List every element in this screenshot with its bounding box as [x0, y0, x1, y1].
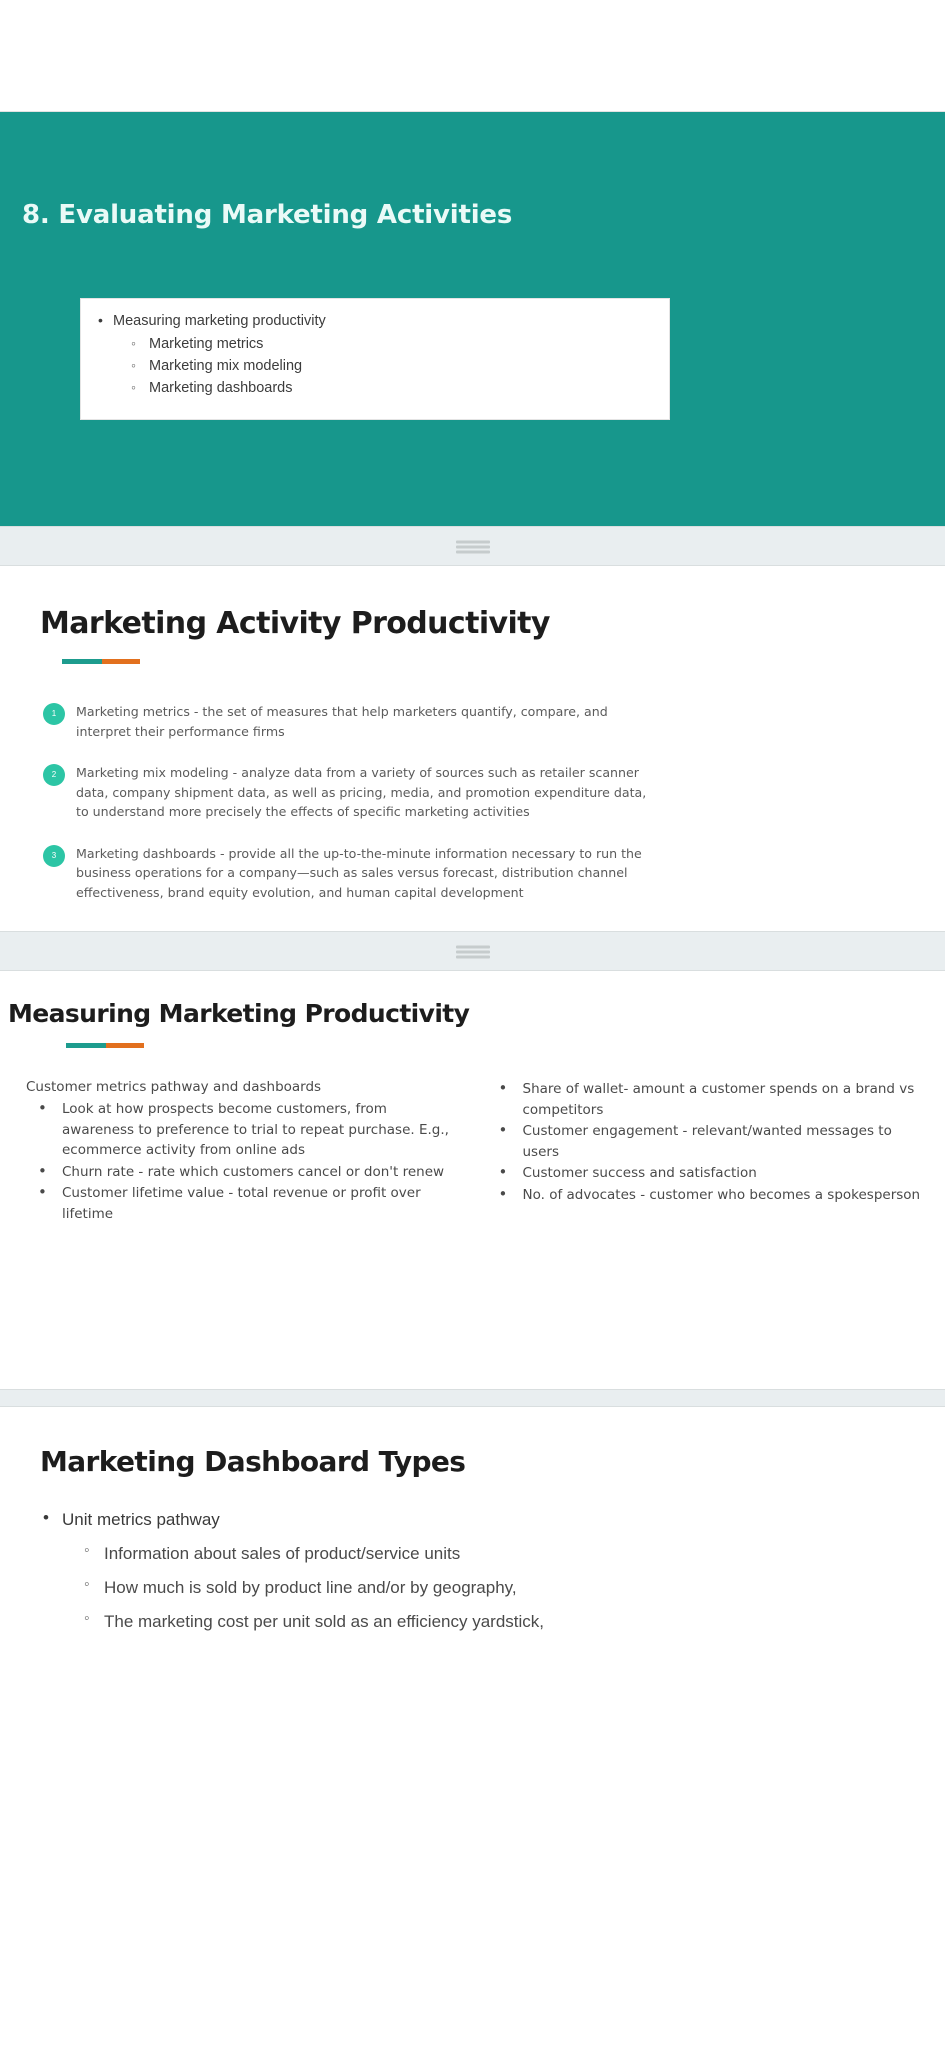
section-content-card: Measuring marketing productivity Marketi…	[80, 298, 670, 420]
section-title: 8. Evaluating Marketing Activities	[22, 200, 512, 230]
page-title: Marketing Activity Productivity	[40, 606, 550, 641]
page-title: Marketing Dashboard Types	[40, 1445, 465, 1478]
drag-handle-icon[interactable]	[456, 541, 490, 552]
numbered-list: 1 Marketing metrics - the set of measure…	[40, 702, 660, 924]
two-column-body: Customer metrics pathway and dashboards …	[0, 1079, 945, 1225]
list-item: Measuring marketing productivity	[81, 313, 669, 329]
list-item: Churn rate - rate which customers cancel…	[26, 1162, 457, 1183]
right-column: Share of wallet- amount a customer spend…	[473, 1079, 945, 1225]
list-item: No. of advocates - customer who becomes …	[483, 1185, 930, 1206]
list-item: How much is sold by product line and/or …	[40, 1578, 920, 1598]
column-heading: Customer metrics pathway and dashboards	[26, 1079, 457, 1095]
list-item: Customer engagement - relevant/wanted me…	[483, 1121, 930, 1162]
slide-marketing-dashboard-types[interactable]: Marketing Dashboard Types Unit metrics p…	[0, 1407, 945, 1747]
page-title: Measuring Marketing Productivity	[8, 999, 469, 1028]
slide-deck[interactable]: 8. Evaluating Marketing Activities Measu…	[0, 0, 945, 1747]
drag-handle-icon[interactable]	[456, 946, 490, 957]
list-item-text: Marketing metrics - the set of measures …	[76, 702, 660, 741]
list-item-text: Marketing mix modeling - analyze data fr…	[76, 763, 660, 822]
slide-separator	[0, 1389, 945, 1407]
list-item: 2 Marketing mix modeling - analyze data …	[40, 763, 660, 822]
slide-partial-top	[0, 0, 945, 112]
section-bullet-list: Measuring marketing productivity Marketi…	[81, 313, 669, 396]
number-badge: 3	[43, 845, 65, 867]
list-item: Unit metrics pathway	[40, 1510, 920, 1530]
list-item-text: Marketing dashboards - provide all the u…	[76, 844, 660, 903]
slide-section-divider[interactable]: 8. Evaluating Marketing Activities Measu…	[0, 112, 945, 526]
accent-segment-orange	[102, 659, 140, 664]
list-item: Customer lifetime value - total revenue …	[26, 1183, 457, 1224]
list-item: Share of wallet- amount a customer spend…	[483, 1079, 930, 1120]
bullet-list: Unit metrics pathway Information about s…	[40, 1510, 920, 1646]
list-item: Look at how prospects become customers, …	[26, 1099, 457, 1161]
list-item: Marketing mix modeling	[81, 358, 669, 374]
list-item: Information about sales of product/servi…	[40, 1544, 920, 1564]
left-column: Customer metrics pathway and dashboards …	[0, 1079, 473, 1225]
bullet-list: Look at how prospects become customers, …	[26, 1099, 457, 1224]
list-item: Marketing metrics	[81, 336, 669, 352]
slide-marketing-activity-productivity[interactable]: Marketing Activity Productivity 1 Market…	[0, 566, 945, 931]
slide-separator-handle[interactable]	[0, 526, 945, 566]
number-badge: 1	[43, 703, 65, 725]
bullet-list: Share of wallet- amount a customer spend…	[483, 1079, 930, 1205]
number-badge: 2	[43, 764, 65, 786]
slide-separator-handle[interactable]	[0, 931, 945, 971]
accent-segment-orange	[106, 1043, 144, 1048]
list-item: The marketing cost per unit sold as an e…	[40, 1612, 920, 1632]
list-item: 1 Marketing metrics - the set of measure…	[40, 702, 660, 741]
accent-segment-teal	[62, 659, 102, 664]
title-accent-rule	[66, 1043, 144, 1048]
list-item: Customer success and satisfaction	[483, 1163, 930, 1184]
title-accent-rule	[62, 659, 140, 664]
list-item: Marketing dashboards	[81, 380, 669, 396]
slide-measuring-marketing-productivity[interactable]: Measuring Marketing Productivity Custome…	[0, 971, 945, 1389]
accent-segment-teal	[66, 1043, 106, 1048]
list-item: 3 Marketing dashboards - provide all the…	[40, 844, 660, 903]
